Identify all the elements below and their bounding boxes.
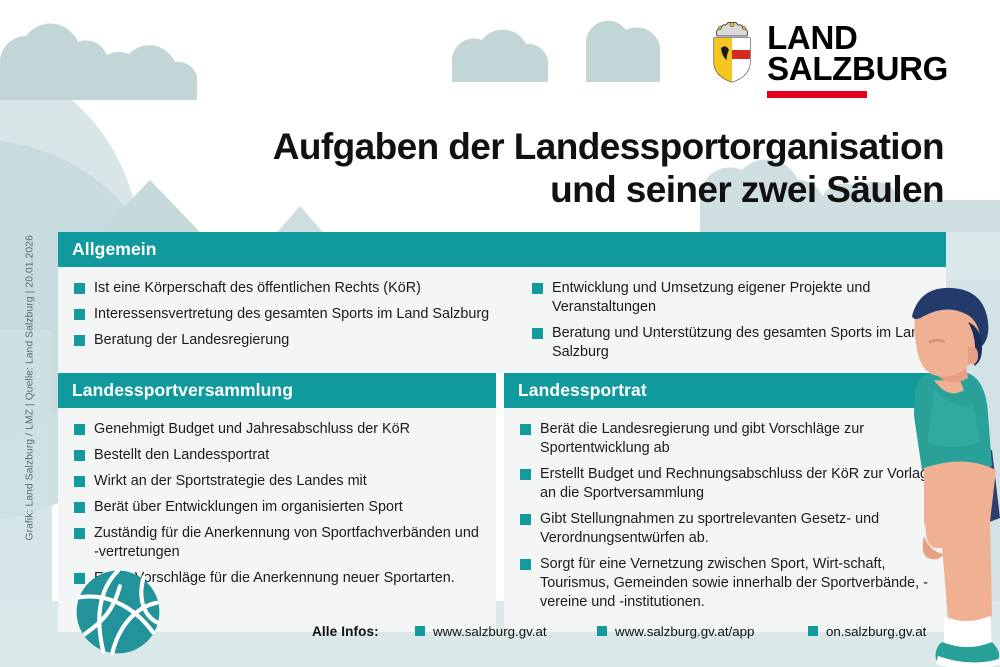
list-item: Genehmigt Budget und Jahresabschluss der… [68,420,486,439]
logo-line-2: SALZBURG [767,53,948,84]
page-title: Aufgaben der Landessportorganisation und… [273,126,944,212]
footer-link-label: www.salzburg.gv.at/app [615,624,754,639]
panel-versammlung-heading: Landessportversammlung [58,373,496,408]
land-salzburg-logo: LAND SALZBURG [709,22,948,98]
panel-allgemein-body: Ist eine Körperschaft des öffentlichen R… [58,267,946,374]
allgemein-column-1: Ist eine Körperschaft des öffentlichen R… [68,279,512,362]
versammlung-list: Genehmigt Budget und Jahresabschluss der… [68,420,486,588]
page-title-line-1: Aufgaben der Landessportorganisation [273,126,944,169]
panel-allgemein: Allgemein Ist eine Körperschaft des öffe… [58,232,946,374]
logo-red-rule [767,91,867,98]
bullet-square-icon [597,626,607,636]
credit-strip: Grafik: Land Salzburg / LMZ | Quelle: La… [0,0,50,667]
footer-link-label: on.salzburg.gv.at [826,624,926,639]
panel-allgemein-heading: Allgemein [58,232,946,267]
list-item: Wirkt an der Sportstrategie des Landes m… [68,472,486,491]
footer-label: Alle Infos: [312,624,379,639]
list-item: Berät über Entwicklungen im organisierte… [68,498,486,517]
list-item: Zuständig für die Anerkennung von Sportf… [68,524,486,562]
footer-link-salzburg-gv-at[interactable]: www.salzburg.gv.at [415,624,547,639]
footer-link-on-salzburg-gv-at[interactable]: on.salzburg.gv.at [808,624,926,639]
list-item: Ist eine Körperschaft des öffentlichen R… [68,279,512,298]
athlete-illustration [872,268,1000,667]
allgemein-list-1: Ist eine Körperschaft des öffentlichen R… [68,279,512,350]
infographic-canvas: Grafik: Land Salzburg / LMZ | Quelle: La… [0,0,1000,667]
cloud-top-right [452,21,660,82]
bullet-square-icon [808,626,818,636]
salzburg-coat-of-arms-icon [709,22,755,84]
page-title-line-2: und seiner zwei Säulen [273,169,944,212]
credit-text: Grafik: Land Salzburg / LMZ | Quelle: La… [25,71,36,541]
footer-link-label: www.salzburg.gv.at [433,624,547,639]
list-item: Interessensvertretung des gesamten Sport… [68,305,512,324]
bullet-square-icon [415,626,425,636]
list-item: Bestellt den Landessportrat [68,446,486,465]
volleyball-icon [72,566,164,658]
footer-link-salzburg-gv-at-app[interactable]: www.salzburg.gv.at/app [597,624,754,639]
footer-links-row: Alle Infos: www.salzburg.gv.at www.salzb… [0,621,1000,641]
list-item: Beratung der Landesregierung [68,331,512,350]
logo-line-1: LAND [767,22,948,53]
